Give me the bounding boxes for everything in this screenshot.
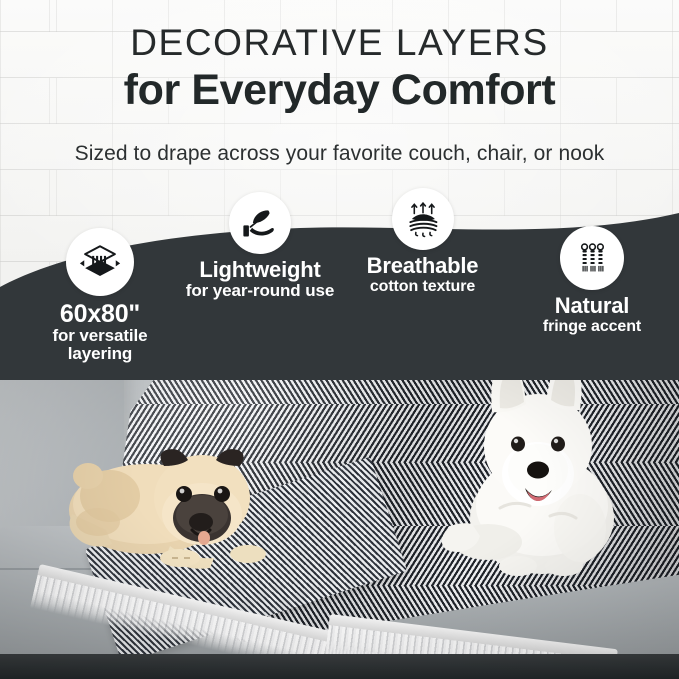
badge-lightweight[interactable]: Lightweight for year-round use: [170, 192, 350, 300]
badge-fringe-text: Natural fringe accent: [512, 295, 672, 335]
badge-size[interactable]: 60x80" for versatile layering: [20, 228, 180, 364]
headline-group: DECORATIVE LAYERS for Everyday Comfort: [0, 22, 679, 115]
badge-breathable-title: Breathable: [340, 255, 505, 278]
pug-dog: [52, 418, 272, 578]
badge-size-sub1: for versatile: [20, 327, 180, 345]
page-title-line1: DECORATIVE LAYERS: [0, 22, 679, 64]
badge-lightweight-sub: for year-round use: [170, 282, 350, 300]
badge-size-sub2: layering: [20, 345, 180, 363]
badge-fringe[interactable]: Natural fringe accent: [512, 226, 672, 335]
layered-stack-icon: [66, 228, 134, 296]
badge-lightweight-text: Lightweight for year-round use: [170, 259, 350, 300]
badge-fringe-sub: fringe accent: [512, 318, 672, 335]
breathable-fabric-arrows-icon: [392, 188, 454, 250]
page-subtitle: Sized to drape across your favorite couc…: [0, 140, 679, 168]
fringe-tassels-icon: [560, 226, 624, 290]
product-infographic: DECORATIVE LAYERS for Everyday Comfort S…: [0, 0, 679, 679]
badge-size-text: 60x80" for versatile layering: [20, 301, 180, 364]
badge-size-title: 60x80": [20, 301, 180, 327]
floor-shadow: [0, 654, 679, 679]
badge-fringe-title: Natural: [512, 295, 672, 318]
page-title-line2: for Everyday Comfort: [0, 66, 679, 115]
badge-breathable-sub: cotton texture: [340, 278, 505, 295]
badge-breathable[interactable]: Breathable cotton texture: [340, 188, 505, 295]
feather-in-hand-icon: [229, 192, 291, 254]
badge-lightweight-title: Lightweight: [170, 259, 350, 282]
badge-breathable-text: Breathable cotton texture: [340, 255, 505, 295]
